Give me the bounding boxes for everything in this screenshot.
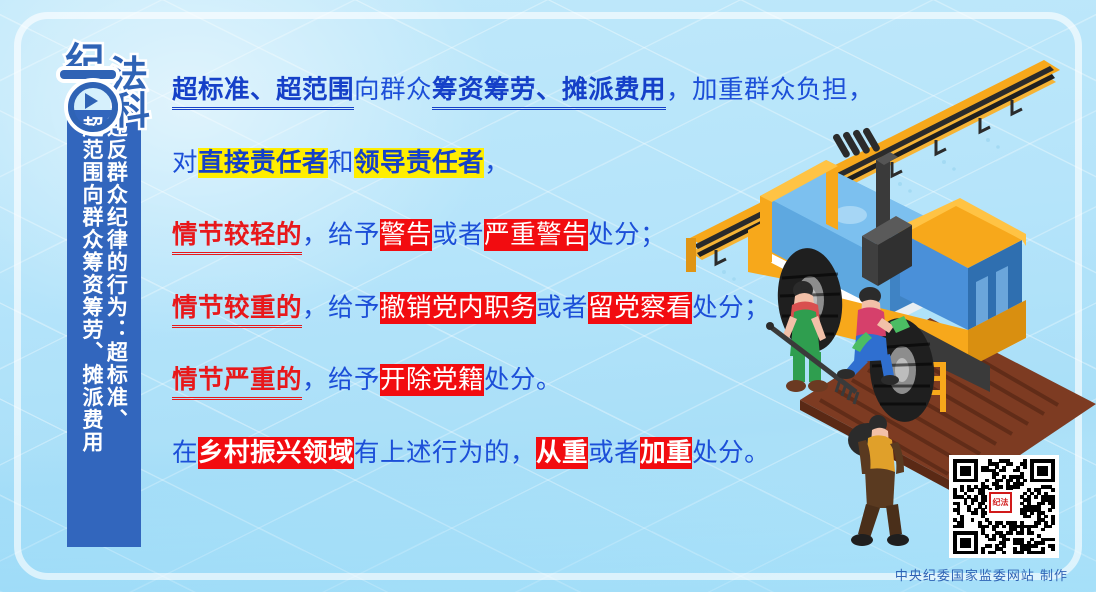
qr-code[interactable]: 纪法	[949, 455, 1059, 558]
text-segment: 或者	[588, 438, 640, 468]
text-segment: 在	[172, 438, 198, 468]
text-segment: 筹资筹劳、摊派费用	[432, 75, 666, 110]
banner-column-left: 超范围向群众筹资筹劳、摊派费用	[80, 116, 104, 534]
text-segment: ，给予	[302, 293, 380, 323]
text-segment: 或者	[536, 293, 588, 323]
text-line-5: 情节严重的，给予开除党籍处分。	[172, 368, 872, 394]
text-line-1: 超标准、超范围向群众筹资筹劳、摊派费用，加重群众负担，	[172, 78, 872, 104]
text-segment: ，	[484, 148, 510, 178]
text-segment: 加重	[640, 437, 692, 469]
text-segment: 对	[172, 148, 198, 178]
text-segment: 撤销党内职务	[380, 292, 536, 324]
text-segment: ，加重群众负担，	[666, 75, 874, 105]
text-segment: 领导责任者	[354, 148, 484, 178]
text-segment: 有上述行为的，	[354, 438, 536, 468]
text-line-4: 情节较重的，给予撤销党内职务或者留党察看处分；	[172, 296, 872, 322]
text-segment: ，给予	[302, 220, 380, 250]
text-segment: 严重警告	[484, 219, 588, 251]
text-segment: 处分；	[692, 293, 770, 323]
text-segment: 情节较重的	[172, 293, 302, 328]
rear-wheel	[866, 315, 939, 424]
text-segment: 开除党籍	[380, 364, 484, 396]
logo-bar	[60, 70, 116, 79]
text-segment: 情节较轻的	[172, 220, 302, 255]
text-segment: 乡村振兴领域	[198, 437, 354, 469]
text-line-3: 情节较轻的，给予警告或者严重警告处分；	[172, 223, 872, 249]
text-segment: 情节严重的	[172, 365, 302, 400]
text-segment: 警告	[380, 219, 432, 251]
text-segment: 处分。	[484, 365, 562, 395]
infographic-poster: 纪 法 科 违反群众纪律的行为：超标准、 超范围向群众筹资筹劳、摊派费用 超标准…	[0, 0, 1096, 592]
qr-center-logo: 纪法	[987, 490, 1014, 515]
logo-char-bai-playmark	[64, 68, 114, 118]
text-segment: 处分；	[588, 220, 666, 250]
text-segment: 超标准、超范围	[172, 75, 354, 110]
text-segment: 和	[328, 148, 354, 178]
text-segment: 向群众	[354, 75, 432, 105]
text-line-6: 在乡村振兴领域有上述行为的，从重或者加重处分。	[172, 441, 872, 467]
text-segment: 留党察看	[588, 292, 692, 324]
body-text-block: 超标准、超范围向群众筹资筹劳、摊派费用，加重群众负担， 对直接责任者和领导责任者…	[172, 78, 872, 466]
vertical-title-banner: 违反群众纪律的行为：超标准、 超范围向群众筹资筹劳、摊派费用	[67, 110, 141, 547]
brand-logo: 纪 法 科	[62, 32, 166, 124]
text-segment: 从重	[536, 437, 588, 469]
text-segment: 直接责任者	[198, 148, 328, 178]
text-segment: 处分。	[692, 438, 770, 468]
text-segment: 或者	[432, 220, 484, 250]
banner-column-right: 违反群众纪律的行为：超标准、	[104, 116, 128, 534]
text-segment: ，给予	[302, 365, 380, 395]
qr-center-logo-label: 纪法	[989, 492, 1012, 513]
text-line-2: 对直接责任者和领导责任者，	[172, 151, 872, 177]
play-triangle-icon	[85, 93, 98, 109]
footer-credit: 中央纪委国家监委网站 制作	[895, 565, 1068, 584]
